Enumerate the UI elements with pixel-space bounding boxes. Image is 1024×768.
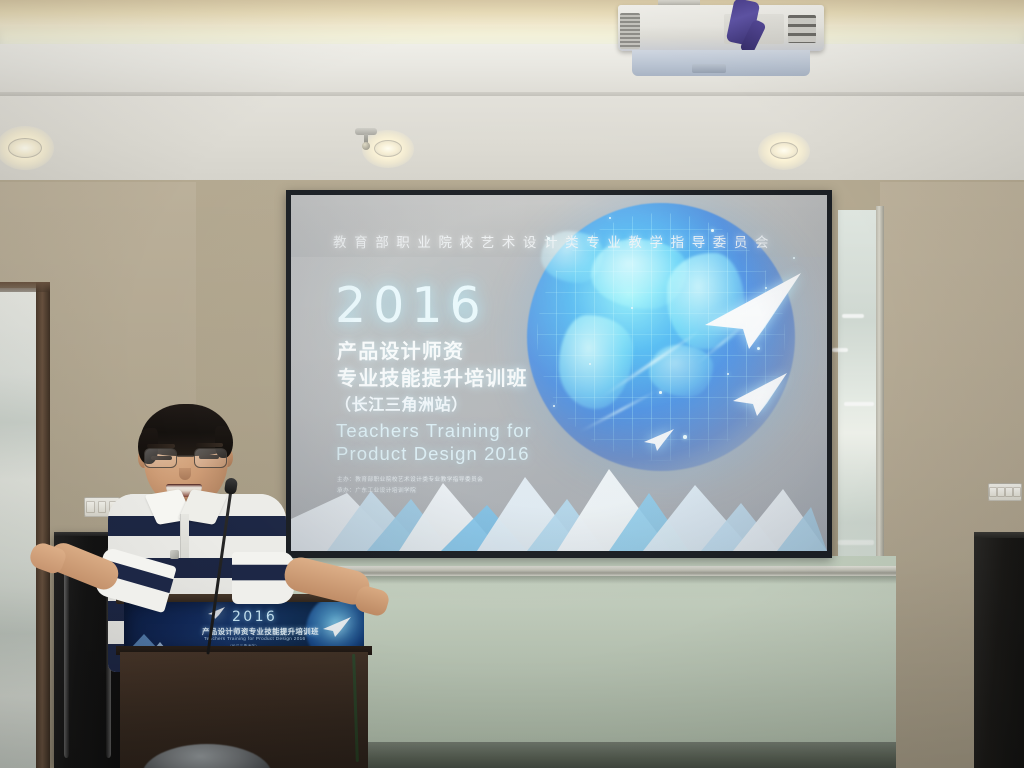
star-speck: [659, 391, 662, 394]
banner-paper-airplane-icon: [206, 606, 226, 620]
low-poly-mountains: [291, 459, 827, 551]
slide-title-cn-line2: 专业技能提升培训班: [337, 362, 528, 391]
frosted-glass-door-left[interactable]: [0, 288, 40, 768]
projector-vent: [620, 13, 640, 49]
eyebrow-right: [196, 443, 223, 447]
slide-title-en-line1: Teachers Training for: [336, 420, 532, 442]
switch-key[interactable]: [989, 487, 997, 497]
glass-reflection-streak: [832, 348, 848, 352]
star-speck: [793, 257, 795, 259]
slide-heading: 教育部职业院校艺术设计类专业教学指导委员会: [333, 231, 803, 251]
ceiling-surface: [0, 96, 1024, 182]
projector-body: [618, 5, 824, 51]
microphone-head-icon: [224, 477, 238, 495]
glass-reflection-streak: [844, 402, 874, 406]
paper-airplane-icon: [727, 371, 789, 419]
banner-year: 2016: [232, 609, 277, 625]
right-arm: [232, 552, 372, 608]
glasses-bridge: [177, 455, 194, 457]
switch-key[interactable]: [997, 487, 1005, 497]
slide-fine-print-line1: 主办：教育部职业院校艺术设计类专业教学指导委员会: [337, 475, 483, 483]
projector-ports: [788, 15, 816, 43]
projector-lens: [692, 64, 726, 73]
shirt-logo-icon: [170, 550, 179, 559]
ceiling-soffit: [0, 44, 1024, 96]
door-frame-left: [36, 282, 50, 768]
slide-title-cn-line1: 产品设计师资: [337, 335, 464, 364]
downlight-center-icon: [374, 140, 402, 157]
downlight-right-icon: [770, 142, 798, 159]
paper-airplane-icon: [689, 269, 805, 353]
slide-title-en-line2: Product Design 2016: [336, 443, 530, 465]
eyeglasses-icon: [142, 448, 232, 470]
conference-room-photo: 教育部职业院校艺术设计类专业教学指导委员会 2016 产品设计师资 专业技能提升…: [0, 0, 1024, 768]
speaker-tower-right: [974, 538, 1024, 768]
paper-airplane-icon: [641, 427, 675, 453]
shirt-placket: [180, 514, 189, 558]
slide-fine-print-line2: 承办：广东工业设计培训学院: [337, 486, 416, 494]
star-speck: [631, 307, 633, 309]
downlight-left-icon: [8, 138, 42, 158]
switch-key[interactable]: [1005, 487, 1013, 497]
glass-reflection-streak: [838, 540, 874, 545]
lens-left: [144, 448, 177, 468]
light-switch-panel-right[interactable]: [988, 483, 1022, 501]
slide-year: 2016: [335, 277, 488, 334]
lectern: 2016 产品设计师资专业技能提升培训班 Teachers Training f…: [116, 594, 370, 768]
star-speck: [683, 435, 687, 439]
nose: [179, 468, 191, 480]
star-speck: [609, 217, 611, 219]
switch-key[interactable]: [1013, 487, 1021, 497]
banner-paper-airplane-icon: [320, 616, 352, 638]
banner-title-en: Teachers Training for Product Design 201…: [204, 636, 305, 641]
lens-right: [194, 448, 227, 468]
star-speck: [553, 405, 555, 407]
slide-subtitle-cn: （长江三角洲站）: [335, 391, 468, 415]
door-header-left: [0, 282, 50, 292]
projection-screen: 教育部职业院校艺术设计类专业教学指导委员会 2016 产品设计师资 专业技能提升…: [286, 190, 832, 558]
projection-screen-surface: 教育部职业院校艺术设计类专业教学指导委员会 2016 产品设计师资 专业技能提升…: [291, 195, 827, 551]
star-speck: [589, 363, 591, 365]
glass-reflection-streak: [842, 314, 864, 318]
